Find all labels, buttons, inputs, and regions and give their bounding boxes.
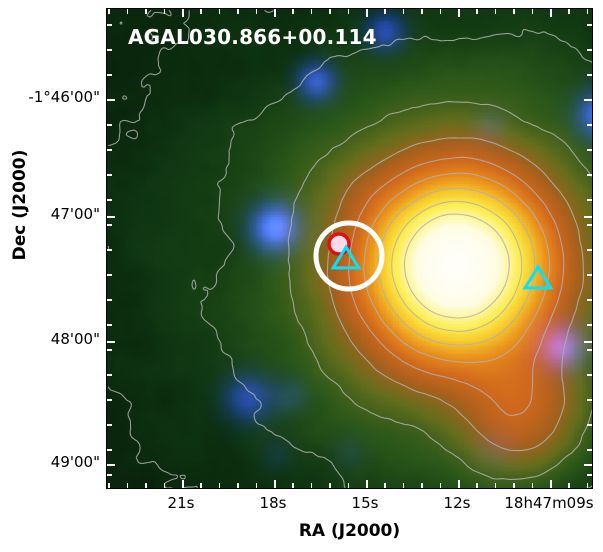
tick-mark [237, 9, 239, 14]
tick-mark [292, 483, 294, 488]
tick-mark [107, 199, 112, 201]
tick-mark [366, 480, 368, 488]
tick-mark [495, 483, 497, 488]
tick-mark [513, 9, 515, 14]
tick-mark [107, 274, 112, 276]
contour-level-2 [288, 102, 593, 480]
tick-mark [384, 9, 386, 14]
tick-mark [107, 299, 112, 301]
tick-mark [403, 9, 405, 14]
y-tick-label: -1°46'00" [28, 88, 100, 106]
tick-mark [458, 480, 460, 488]
tick-mark [108, 483, 110, 488]
tick-mark [311, 9, 313, 14]
tick-mark [348, 9, 350, 14]
tick-mark [292, 9, 294, 14]
tick-mark [107, 464, 115, 466]
y-tick-label: 47'00" [51, 205, 100, 223]
tick-mark [107, 49, 112, 51]
tick-mark [164, 483, 166, 488]
tick-mark [107, 449, 112, 451]
tick-mark [182, 480, 184, 488]
tick-mark [421, 9, 423, 14]
tick-mark [256, 483, 258, 488]
tick-mark [568, 483, 570, 488]
tick-mark [127, 483, 129, 488]
tick-mark [587, 299, 592, 301]
tick-mark [348, 483, 350, 488]
tick-mark [458, 9, 460, 17]
contour-level-0 [108, 10, 273, 488]
contour-level-7 [392, 202, 522, 332]
tick-mark [587, 224, 592, 226]
tick-mark [256, 9, 258, 14]
tick-mark [587, 74, 592, 76]
tick-mark [274, 480, 276, 488]
tick-mark [587, 49, 592, 51]
tick-mark [107, 149, 112, 151]
tick-mark [107, 424, 112, 426]
tick-mark [200, 483, 202, 488]
tick-mark [587, 9, 589, 14]
tick-mark [107, 324, 112, 326]
page-title: AGAL030.866+00.114 [128, 25, 377, 49]
astronomical-figure: Dec (J2000) -1°46'00"47'00"48'00"49'00" … [0, 0, 603, 552]
tick-mark [107, 399, 112, 401]
x-axis-label: RA (J2000) [106, 521, 593, 541]
tick-mark [476, 9, 478, 14]
tick-mark [107, 474, 112, 476]
tick-mark [107, 341, 115, 343]
tick-mark [513, 483, 515, 488]
tick-mark [532, 483, 534, 488]
tick-mark [476, 483, 478, 488]
source-markers [316, 223, 551, 289]
tick-mark [568, 9, 570, 14]
tick-mark [107, 24, 112, 26]
tick-mark [145, 9, 147, 14]
methanol-maser-marker [329, 234, 349, 254]
tick-mark [587, 349, 592, 351]
tick-mark [219, 9, 221, 14]
contour-lines [108, 10, 593, 488]
tick-mark [384, 483, 386, 488]
tick-mark [584, 216, 592, 218]
tick-mark [587, 24, 592, 26]
y-tick-label: 48'00" [51, 330, 100, 348]
tick-mark [440, 483, 442, 488]
tick-mark [108, 9, 110, 14]
contour-and-marker-overlay [107, 9, 593, 489]
tick-mark [587, 374, 592, 376]
tick-mark [550, 480, 552, 488]
tick-mark [127, 9, 129, 14]
tick-mark [107, 99, 115, 101]
tick-mark [145, 483, 147, 488]
contour-level-6 [379, 188, 535, 345]
tick-mark [200, 9, 202, 14]
x-tick-label: 18h47m09s [489, 494, 603, 512]
tick-mark [587, 399, 592, 401]
tick-mark [584, 99, 592, 101]
tick-mark [495, 9, 497, 14]
tick-mark [107, 216, 115, 218]
tick-mark [587, 474, 592, 476]
tick-mark [329, 9, 331, 14]
tick-mark [219, 483, 221, 488]
tick-mark [584, 464, 592, 466]
tick-mark [164, 9, 166, 14]
tick-mark [107, 74, 112, 76]
y-tick-label: 49'00" [51, 453, 100, 471]
tick-mark [107, 349, 112, 351]
tick-mark [587, 424, 592, 426]
sky-image-plot [106, 8, 593, 489]
tick-mark [329, 483, 331, 488]
tick-mark [107, 224, 112, 226]
tick-mark [107, 374, 112, 376]
tick-mark [584, 341, 592, 343]
tick-mark [587, 274, 592, 276]
tick-mark [107, 124, 112, 126]
tick-mark [403, 483, 405, 488]
tick-mark [550, 9, 552, 17]
tick-mark [587, 449, 592, 451]
tick-mark [366, 9, 368, 17]
tick-mark [587, 483, 589, 488]
tick-mark [587, 249, 592, 251]
tick-mark [311, 483, 313, 488]
tick-mark [107, 174, 112, 176]
contour-level-3 [327, 138, 583, 451]
tick-mark [587, 324, 592, 326]
tick-mark [421, 483, 423, 488]
tick-mark [440, 9, 442, 14]
tick-mark [587, 174, 592, 176]
y-axis-label: Dec (J2000) [10, 105, 30, 305]
tick-mark [587, 124, 592, 126]
tick-mark [587, 149, 592, 151]
tick-mark [274, 9, 276, 17]
tick-mark [182, 9, 184, 17]
tick-mark [587, 199, 592, 201]
contour-level-8 [405, 214, 510, 318]
tick-mark [107, 249, 112, 251]
tick-mark [237, 483, 239, 488]
tick-mark [532, 9, 534, 14]
